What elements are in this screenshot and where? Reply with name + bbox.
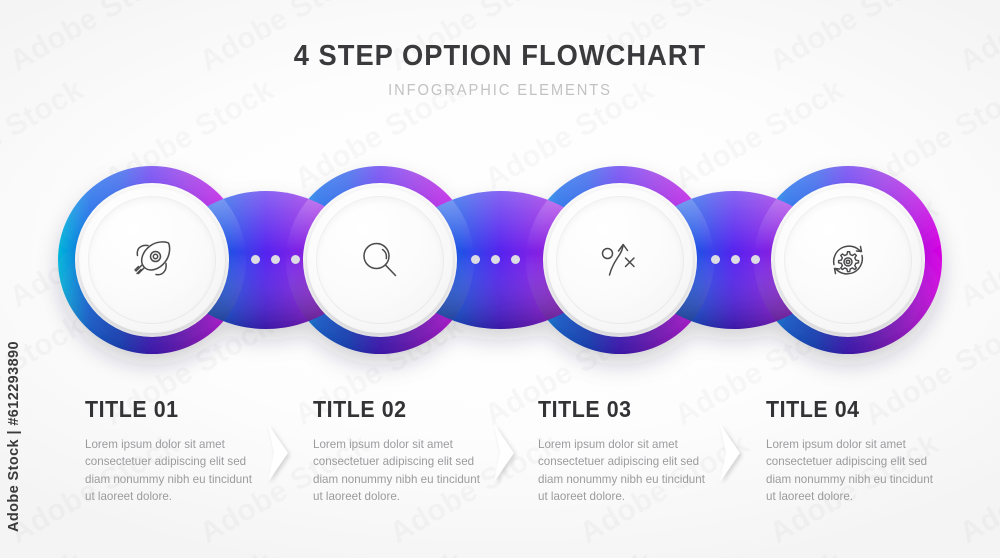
connector-dot bbox=[751, 255, 760, 264]
connector-dot bbox=[291, 255, 300, 264]
step-title-1: TITLE 01 bbox=[85, 396, 249, 423]
step-circle-4[interactable] bbox=[775, 187, 921, 333]
step-text-columns: TITLE 01 Lorem ipsum dolor sit amet cons… bbox=[0, 396, 1000, 516]
step-circle-3[interactable] bbox=[547, 187, 693, 333]
step-title-2: TITLE 02 bbox=[313, 396, 477, 423]
connector-dot bbox=[491, 255, 500, 264]
chevron-separator-1 bbox=[266, 422, 292, 484]
strategy-arrow-icon bbox=[594, 234, 646, 286]
step-text-3: TITLE 03 Lorem ipsum dolor sit amet cons… bbox=[538, 396, 714, 506]
step-circle-2[interactable] bbox=[307, 187, 453, 333]
connector-dot bbox=[271, 255, 280, 264]
chevron-separator-2 bbox=[492, 422, 518, 484]
step-text-4: TITLE 04 Lorem ipsum dolor sit amet cons… bbox=[766, 396, 942, 506]
step-body-2: Lorem ipsum dolor sit amet consectetuer … bbox=[313, 436, 489, 506]
connector-dot bbox=[731, 255, 740, 264]
magnifier-icon bbox=[355, 235, 405, 285]
step-body-4: Lorem ipsum dolor sit amet consectetuer … bbox=[766, 436, 942, 506]
connector-dots-3 bbox=[711, 255, 760, 264]
step-title-4: TITLE 04 bbox=[766, 396, 930, 423]
page-subtitle: INFOGRAPHIC ELEMENTS bbox=[25, 82, 975, 100]
connector-dot bbox=[471, 255, 480, 264]
connector-dot bbox=[711, 255, 720, 264]
step-body-3: Lorem ipsum dolor sit amet consectetuer … bbox=[538, 436, 714, 506]
step-text-1: TITLE 01 Lorem ipsum dolor sit amet cons… bbox=[85, 396, 261, 506]
step-circle-1[interactable] bbox=[79, 187, 225, 333]
connector-dots-2 bbox=[471, 255, 520, 264]
rocket-icon bbox=[126, 234, 178, 286]
page-title: 4 STEP OPTION FLOWCHART bbox=[30, 40, 970, 73]
connector-dots-1 bbox=[251, 255, 300, 264]
chevron-separator-3 bbox=[718, 422, 744, 484]
header: 4 STEP OPTION FLOWCHART INFOGRAPHIC ELEM… bbox=[0, 40, 1000, 100]
step-text-2: TITLE 02 Lorem ipsum dolor sit amet cons… bbox=[313, 396, 489, 506]
step-body-1: Lorem ipsum dolor sit amet consectetuer … bbox=[85, 436, 261, 506]
gear-cycle-icon bbox=[822, 234, 874, 286]
connector-dot bbox=[251, 255, 260, 264]
step-title-3: TITLE 03 bbox=[538, 396, 702, 423]
connector-dot bbox=[511, 255, 520, 264]
flowchart-ribbon bbox=[0, 128, 1000, 388]
